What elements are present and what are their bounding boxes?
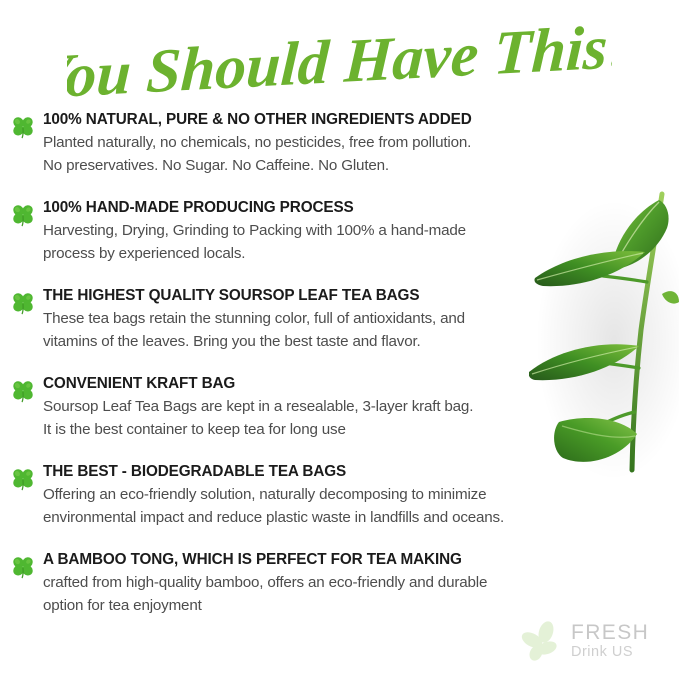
page-title-text: You Should Have This! [67,16,612,108]
feature-item: CONVENIENT KRAFT BAG Soursop Leaf Tea Ba… [0,374,679,462]
brand-subtitle: Drink US [571,645,649,660]
poster-canvas: You Should Have This! [0,0,679,679]
feature-title: THE HIGHEST QUALITY SOURSOP LEAF TEA BAG… [43,286,673,305]
feature-body: Harvesting, Drying, Grinding to Packing … [43,220,673,265]
four-leaf-clover-icon [11,467,35,491]
feature-body: These tea bags retain the stunning color… [43,308,673,353]
feature-list: 100% NATURAL, PURE & NO OTHER INGREDIENT… [0,110,679,638]
feature-item: 100% NATURAL, PURE & NO OTHER INGREDIENT… [0,110,679,198]
feature-title: CONVENIENT KRAFT BAG [43,374,673,393]
four-leaf-clover-icon [11,379,35,403]
four-leaf-clover-icon [11,555,35,579]
feature-title: A BAMBOO TONG, WHICH IS PERFECT FOR TEA … [43,550,673,569]
feature-title: THE BEST - BIODEGRADABLE TEA BAGS [43,462,673,481]
leaf-logo-icon [519,619,565,663]
page-title-script: You Should Have This! [67,16,612,108]
feature-title: 100% NATURAL, PURE & NO OTHER INGREDIENT… [43,110,673,129]
feature-title: 100% HAND-MADE PRODUCING PROCESS [43,198,673,217]
four-leaf-clover-icon [11,203,35,227]
feature-body: Offering an eco-friendly solution, natur… [43,484,673,529]
brand-text: FRESH Drink US [571,622,649,660]
feature-item: 100% HAND-MADE PRODUCING PROCESS Harvest… [0,198,679,286]
page-title: You Should Have This! [0,14,679,110]
feature-item: THE BEST - BIODEGRADABLE TEA BAGS Offeri… [0,462,679,550]
feature-item: THE HIGHEST QUALITY SOURSOP LEAF TEA BAG… [0,286,679,374]
feature-body: Soursop Leaf Tea Bags are kept in a rese… [43,396,673,441]
four-leaf-clover-icon [11,291,35,315]
feature-body: Planted naturally, no chemicals, no pest… [43,132,673,177]
four-leaf-clover-icon [11,115,35,139]
brand-name: FRESH [571,622,649,643]
feature-body: crafted from high-quality bamboo, offers… [43,572,673,617]
brand-logo: FRESH Drink US [519,617,667,665]
